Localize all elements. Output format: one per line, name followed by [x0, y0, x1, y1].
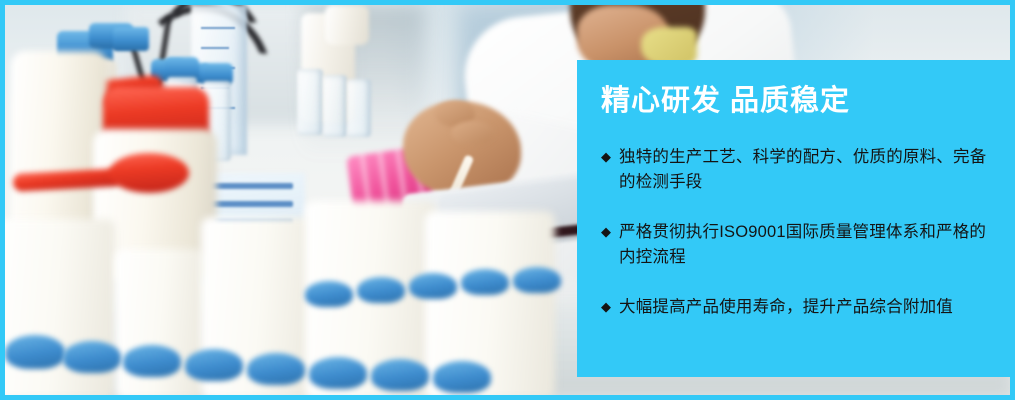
feature-list: ◆ 独特的生产工艺、科学的配方、优质的原料、完备 的检测手段 ◆ 严格贯彻执行I…	[601, 145, 1006, 321]
photo-fg-blue-cap	[461, 269, 509, 295]
photo-fg-blue-cap	[63, 341, 121, 373]
photo-fg-blue-cap	[247, 353, 305, 385]
diamond-bullet-icon: ◆	[601, 145, 611, 170]
photo-fg-blue-cap	[309, 357, 367, 389]
photo-finger	[451, 121, 495, 145]
diamond-bullet-icon: ◆	[601, 295, 611, 320]
photo-rack-bar	[205, 201, 293, 207]
photo-fg-blue-cap	[513, 267, 561, 293]
photo-red-cap	[109, 153, 189, 193]
photo-fg-blue-cap	[5, 335, 65, 369]
photo-small-vial	[347, 79, 371, 137]
photo-rack-bar	[205, 183, 293, 189]
photo-fg-blue-cap	[357, 277, 405, 303]
photo-fg-blue-cap	[409, 273, 457, 299]
info-panel: 精心研发 品质稳定 ◆ 独特的生产工艺、科学的配方、优质的原料、完备 的检测手段…	[577, 60, 1015, 377]
photo-small-vial	[323, 75, 347, 137]
feature-item-2: ◆ 严格贯彻执行ISO9001国际质量管理体系和严格的 内控流程	[601, 220, 1006, 271]
photo-bottle-neck	[325, 5, 369, 45]
feature-item-3: ◆ 大幅提高产品使用寿命，提升产品综合附加值	[601, 295, 1006, 321]
photo-fg-blue-cap	[371, 359, 429, 391]
photo-cylinder-tick	[201, 47, 229, 49]
feature-item-1-text: 独特的生产工艺、科学的配方、优质的原料、完备 的检测手段	[619, 148, 986, 192]
photo-fg-blue-cap	[433, 361, 491, 393]
panel-title: 精心研发 品质稳定	[601, 84, 1006, 119]
photo-blue-cap	[113, 27, 149, 51]
feature-item-3-text: 大幅提高产品使用寿命，提升产品综合附加值	[619, 298, 953, 316]
feature-item-2-text: 严格贯彻执行ISO9001国际质量管理体系和严格的 内控流程	[619, 223, 986, 267]
photo-small-vial	[297, 69, 323, 135]
photo-fg-blue-cap	[305, 281, 353, 307]
photo-fg-blue-cap	[123, 345, 181, 377]
photo-cylinder-tick	[201, 27, 235, 29]
promo-banner: 精心研发 品质稳定 ◆ 独特的生产工艺、科学的配方、优质的原料、完备 的检测手段…	[0, 0, 1015, 400]
feature-item-1: ◆ 独特的生产工艺、科学的配方、优质的原料、完备 的检测手段	[601, 145, 1006, 196]
photo-fg-blue-cap	[185, 349, 243, 381]
diamond-bullet-icon: ◆	[601, 220, 611, 245]
